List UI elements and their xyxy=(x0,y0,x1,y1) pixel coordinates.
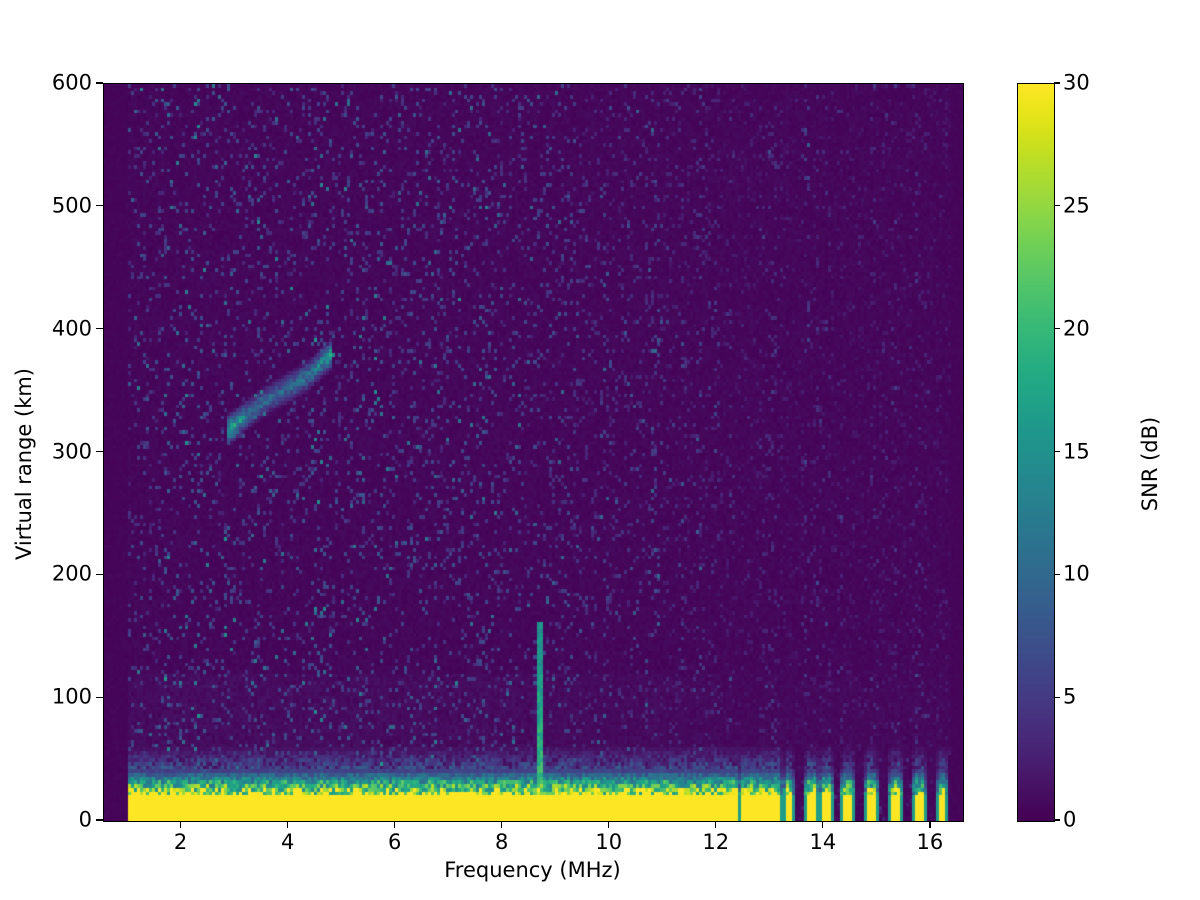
y-tick-mark xyxy=(96,451,103,452)
x-tick-label: 14 xyxy=(809,832,836,853)
y-tick-label: 0 xyxy=(79,810,92,831)
x-tick-mark xyxy=(822,821,823,828)
colorbar-tick-label: 30 xyxy=(1063,73,1090,94)
x-tick-mark xyxy=(180,821,181,828)
colorbar-tick-mark xyxy=(1054,328,1060,329)
x-tick-label: 2 xyxy=(174,832,187,853)
colorbar-tick-mark xyxy=(1054,697,1060,698)
colorbar-tick-label: 25 xyxy=(1063,195,1090,216)
y-tick-label: 200 xyxy=(52,564,92,585)
y-tick-label: 300 xyxy=(52,441,92,462)
y-tick-mark xyxy=(96,574,103,575)
y-tick-label: 600 xyxy=(52,73,92,94)
y-tick-mark xyxy=(96,697,103,698)
x-tick-mark xyxy=(715,821,716,828)
colorbar[interactable] xyxy=(1017,83,1055,822)
colorbar-tick-mark xyxy=(1054,205,1060,206)
y-tick-mark xyxy=(96,819,103,820)
x-tick-label: 16 xyxy=(917,832,944,853)
colorbar-tick-label: 15 xyxy=(1063,441,1090,462)
colorbar-tick-label: 20 xyxy=(1063,318,1090,339)
colorbar-tick-mark xyxy=(1054,451,1060,452)
x-tick-label: 4 xyxy=(281,832,294,853)
x-tick-mark xyxy=(929,821,930,828)
x-tick-mark xyxy=(394,821,395,828)
y-tick-label: 400 xyxy=(52,318,92,339)
colorbar-tick-label: 5 xyxy=(1063,687,1076,708)
colorbar-gradient xyxy=(1018,84,1054,821)
colorbar-label: SNR (dB) xyxy=(1138,314,1162,614)
x-tick-label: 10 xyxy=(595,832,622,853)
ionogram-figure: IRF Kiruna Ionosonde KI167 2025-09-25 17… xyxy=(0,0,1200,900)
y-tick-mark xyxy=(96,328,103,329)
y-tick-label: 100 xyxy=(52,687,92,708)
colorbar-tick-label: 0 xyxy=(1063,810,1076,831)
x-tick-mark xyxy=(287,821,288,828)
y-tick-mark xyxy=(96,205,103,206)
y-tick-label: 500 xyxy=(52,195,92,216)
x-axis-label: Frequency (MHz) xyxy=(103,858,962,882)
colorbar-tick-mark xyxy=(1054,82,1060,83)
x-tick-mark xyxy=(608,821,609,828)
x-tick-label: 6 xyxy=(388,832,401,853)
y-axis-label: Virtual range (km) xyxy=(12,244,36,684)
x-tick-mark xyxy=(501,821,502,828)
ionogram-heatmap-canvas[interactable] xyxy=(104,84,963,821)
ionogram-plot[interactable] xyxy=(103,83,964,822)
x-tick-label: 8 xyxy=(495,832,508,853)
y-tick-mark xyxy=(96,82,103,83)
x-tick-label: 12 xyxy=(702,832,729,853)
colorbar-tick-mark xyxy=(1054,574,1060,575)
colorbar-tick-mark xyxy=(1054,819,1060,820)
colorbar-tick-label: 10 xyxy=(1063,564,1090,585)
